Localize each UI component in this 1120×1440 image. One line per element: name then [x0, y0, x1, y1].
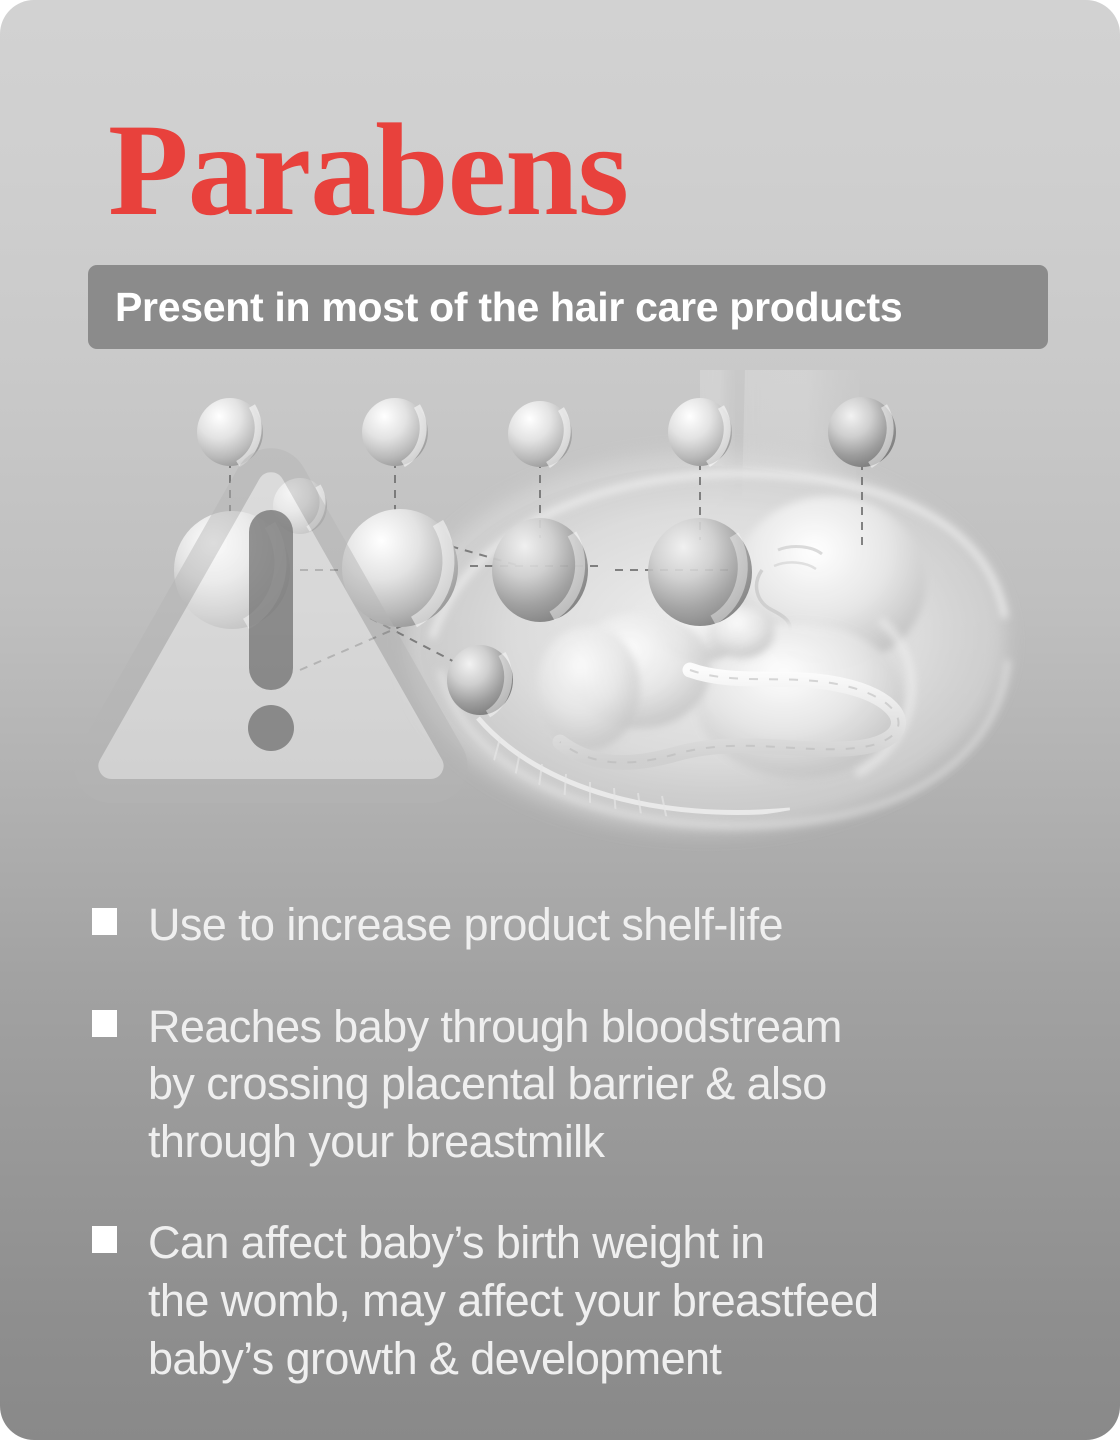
artwork-illustration: [0, 370, 1120, 890]
warning-triangle-icon: [86, 460, 455, 791]
page-title: Parabens: [108, 104, 628, 236]
subtitle-text: Present in most of the hair care product…: [115, 287, 902, 328]
list-item-label: Can affect baby’s birth weight in the wo…: [148, 1214, 878, 1387]
list-item: Use to increase product shelf-life: [92, 896, 1092, 954]
list-item-label: Reaches baby through bloodstream by cros…: [148, 998, 842, 1171]
square-bullet-icon: [92, 908, 117, 935]
fact-list: Use to increase product shelf-life Reach…: [92, 896, 1092, 1387]
list-item: Reaches baby through bloodstream by cros…: [92, 998, 1092, 1171]
square-bullet-icon: [92, 1010, 117, 1037]
list-item-label: Use to increase product shelf-life: [148, 896, 783, 954]
subtitle-banner: Present in most of the hair care product…: [88, 265, 1048, 349]
product-bottle-silhouette: [700, 370, 860, 520]
square-bullet-icon: [92, 1226, 117, 1253]
parabens-info-card: Parabens Present in most of the hair car…: [0, 0, 1120, 1440]
exclamation-mark-icon: [248, 510, 294, 751]
fetus-in-womb-illustration: [406, 452, 1008, 832]
dashed-connector-lines: [230, 460, 862, 670]
molecule-spheres: [174, 397, 896, 715]
list-item: Can affect baby’s birth weight in the wo…: [92, 1214, 1092, 1387]
